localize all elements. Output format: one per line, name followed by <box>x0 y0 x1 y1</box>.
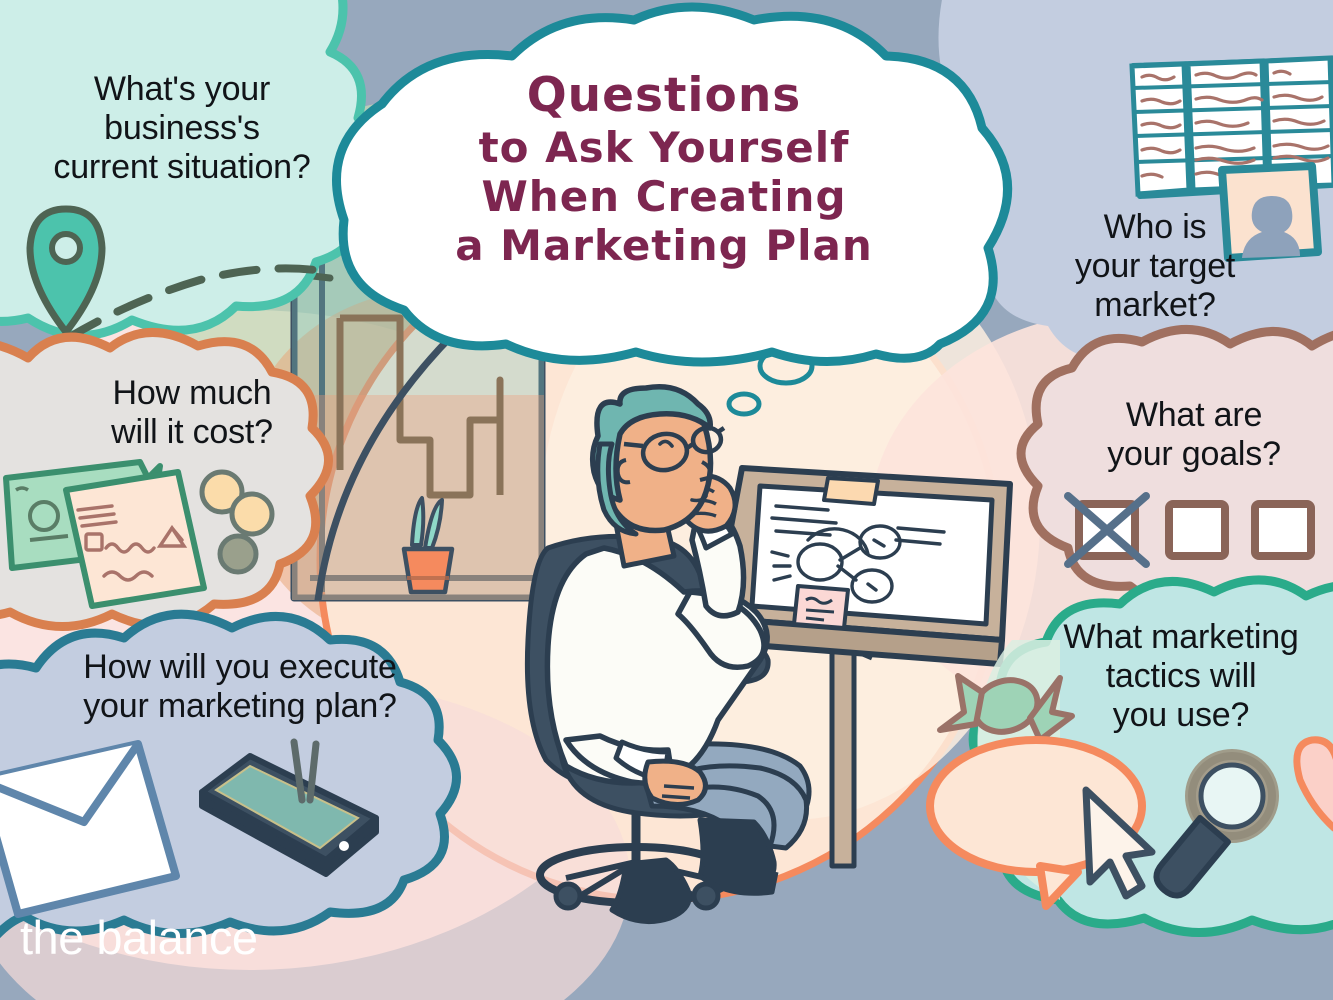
q6-line-3: you use? <box>1042 696 1320 735</box>
title-line-3: When Creating <box>356 172 972 221</box>
check-icon <box>66 472 204 606</box>
q1-line-1: What's your <box>22 70 342 109</box>
question-label-current-situation: What's your business's current situation… <box>22 70 342 186</box>
checkbox-group[interactable] <box>1068 496 1311 564</box>
checkbox-empty-icon-2 <box>1255 504 1311 556</box>
q3-line-1: How much <box>72 374 312 413</box>
brand-logo: the balance <box>20 910 258 965</box>
q4-line-2: your goals? <box>1080 435 1308 474</box>
title-line-1: Questions <box>356 68 972 123</box>
q1-line-3: current situation? <box>22 148 342 187</box>
title-line-4: a Marketing Plan <box>356 221 972 270</box>
question-label-goals: What are your goals? <box>1080 396 1308 474</box>
q6-line-1: What marketing <box>1042 618 1320 657</box>
question-label-tactics: What marketing tactics will you use? <box>1042 618 1320 734</box>
infographic-canvas: Questions to Ask Yourself When Creating … <box>0 0 1333 1000</box>
q5-line-2: your marketing plan? <box>52 687 428 726</box>
question-label-execute: How will you execute your marketing plan… <box>52 648 428 726</box>
q6-line-2: tactics will <box>1042 657 1320 696</box>
main-title: Questions to Ask Yourself When Creating … <box>356 68 972 270</box>
checkbox-empty-icon-1 <box>1169 504 1225 556</box>
question-label-cost: How much will it cost? <box>72 374 312 452</box>
q2-line-1: Who is <box>1030 208 1280 247</box>
q1-line-2: business's <box>22 109 342 148</box>
q3-line-2: will it cost? <box>72 413 312 452</box>
question-label-target-market: Who is your target market? <box>1030 208 1280 324</box>
title-line-2: to Ask Yourself <box>356 123 972 172</box>
q5-line-1: How will you execute <box>52 648 428 687</box>
q2-line-2: your target <box>1030 247 1280 286</box>
q2-line-3: market? <box>1030 286 1280 325</box>
q4-line-1: What are <box>1080 396 1308 435</box>
checkbox-checked-icon <box>1068 496 1146 564</box>
